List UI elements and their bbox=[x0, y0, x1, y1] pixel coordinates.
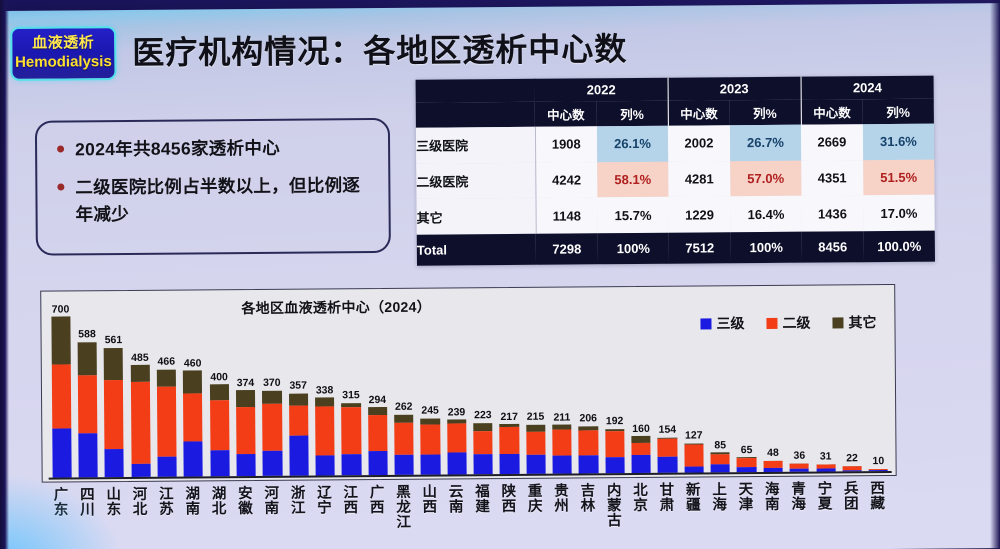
bar-segment-二级 bbox=[262, 403, 282, 450]
bar-segment-三级 bbox=[236, 454, 255, 476]
cell-pct: 31.6% bbox=[863, 124, 935, 160]
list-item: 2024年共8456家透析中心 bbox=[53, 134, 372, 164]
x-tick-label: 山西 bbox=[417, 486, 444, 516]
bar-column: 561 bbox=[104, 334, 124, 477]
bar-segment-三级 bbox=[632, 455, 651, 473]
x-tick-label: 福建 bbox=[469, 485, 496, 515]
cell-count: 4351 bbox=[801, 160, 863, 196]
bar-segment-二级 bbox=[341, 407, 361, 454]
year-header-2022: 2022 bbox=[535, 78, 668, 102]
list-item: 二级医院比例占半数以上，但比例逐年减少 bbox=[53, 172, 372, 229]
regional-dialysis-center-chart: 各地区血液透析中心（2024） 三级二级其它 70058856148546646… bbox=[40, 284, 896, 483]
x-tick-label: 广西 bbox=[364, 486, 391, 516]
cell-pct: 16.4% bbox=[730, 196, 802, 232]
bar-column: 211 bbox=[552, 411, 572, 473]
bar-segment-三级 bbox=[263, 450, 282, 475]
cell-pct: 15.7% bbox=[597, 197, 669, 233]
col-header-count-2022: 中心数 bbox=[535, 101, 597, 126]
x-tick-label: 河南 bbox=[258, 487, 285, 517]
row-label: 二级医院 bbox=[416, 162, 535, 199]
cell-count: 1436 bbox=[801, 195, 863, 231]
bar-stack bbox=[473, 423, 493, 474]
bar-column: 315 bbox=[341, 389, 361, 475]
x-tick-label: 湖北 bbox=[206, 487, 233, 517]
bar-segment-三级 bbox=[342, 454, 361, 475]
x-tick-label: 北京 bbox=[627, 484, 654, 514]
x-tick-label: 内蒙古 bbox=[601, 484, 628, 529]
bar-segment-二级 bbox=[368, 415, 387, 451]
bar-value-label: 215 bbox=[527, 411, 545, 423]
bar-column: 127 bbox=[684, 430, 704, 473]
bar-segment-三级 bbox=[421, 454, 440, 474]
bar-column: 31 bbox=[816, 451, 835, 472]
bar-stack bbox=[605, 429, 625, 473]
bar-value-label: 22 bbox=[846, 453, 858, 465]
bar-segment-二级 bbox=[157, 387, 177, 457]
bar-column: 85 bbox=[711, 439, 730, 472]
bar-segment-其它 bbox=[183, 371, 202, 394]
bar-column: 239 bbox=[447, 406, 467, 475]
bar-stack bbox=[684, 443, 703, 472]
bar-segment-三级 bbox=[553, 455, 572, 474]
bar-column: 374 bbox=[236, 376, 256, 476]
bar-stack bbox=[526, 424, 546, 474]
x-tick-label: 江西 bbox=[338, 486, 365, 516]
bar-stack bbox=[631, 436, 651, 473]
bullet-dot-icon bbox=[57, 184, 64, 191]
bar-segment-其它 bbox=[262, 391, 281, 404]
chart-plot-area: 7005885614854664604003743703573383152942… bbox=[47, 288, 891, 478]
bar-column: 65 bbox=[737, 444, 756, 473]
bar-value-label: 485 bbox=[131, 352, 149, 364]
bar-value-label: 588 bbox=[78, 329, 96, 341]
bar-value-label: 31 bbox=[820, 451, 832, 463]
bar-segment-三级 bbox=[395, 455, 414, 475]
bar-segment-三级 bbox=[184, 441, 203, 476]
x-tick-label: 上海 bbox=[706, 483, 733, 513]
table-row: 其它 1148 15.7% 1229 16.4% 1436 17.0% bbox=[416, 195, 934, 235]
cell-count: 4281 bbox=[668, 161, 730, 197]
x-tick-label: 河北 bbox=[127, 488, 154, 518]
x-tick-label: 海南 bbox=[759, 483, 786, 513]
table-row: 二级医院 4242 58.1% 4281 57.0% 4351 51.5% bbox=[416, 159, 934, 199]
bar-segment-其它 bbox=[315, 398, 334, 407]
hemodialysis-logo-badge: 血液透析 Hemodialysis bbox=[10, 26, 116, 81]
bar-value-label: 223 bbox=[474, 409, 492, 421]
year-header-2024: 2024 bbox=[801, 76, 934, 100]
bar-segment-二级 bbox=[737, 458, 756, 467]
col-header-count-2024: 中心数 bbox=[801, 99, 863, 124]
bar-stack bbox=[658, 437, 677, 473]
bar-value-label: 85 bbox=[714, 439, 726, 451]
x-tick-label: 安徽 bbox=[232, 487, 259, 517]
bar-segment-二级 bbox=[104, 380, 124, 449]
x-tick-label: 江苏 bbox=[153, 488, 180, 518]
bar-stack bbox=[737, 457, 756, 472]
bar-segment-二级 bbox=[78, 375, 98, 434]
bar-value-label: 65 bbox=[741, 444, 753, 456]
slide-title: 医疗机构情况：各地区透析中心数 bbox=[132, 24, 627, 74]
bar-segment-二级 bbox=[684, 444, 703, 466]
x-tick-label: 广东 bbox=[48, 488, 75, 518]
x-tick-label: 陕西 bbox=[496, 485, 523, 515]
bar-value-label: 48 bbox=[767, 447, 779, 459]
bar-value-label: 357 bbox=[289, 380, 307, 392]
bar-stack bbox=[183, 371, 203, 477]
col-header-pct-2022: 列% bbox=[597, 101, 668, 127]
bar-column: 245 bbox=[420, 405, 440, 475]
cell-count: 2669 bbox=[801, 124, 863, 160]
bar-column: 485 bbox=[130, 352, 150, 477]
bar-stack bbox=[130, 365, 150, 477]
x-tick-label: 青海 bbox=[785, 483, 812, 513]
col-header-count-2023: 中心数 bbox=[668, 100, 730, 125]
bar-segment-二级 bbox=[526, 431, 545, 455]
cell-pct: 58.1% bbox=[597, 161, 669, 197]
col-header-pct-2024: 列% bbox=[862, 99, 934, 125]
bar-segment-三级 bbox=[711, 465, 730, 473]
bar-stack bbox=[368, 407, 388, 475]
bar-stack bbox=[77, 342, 97, 477]
x-tick-label: 山东 bbox=[100, 488, 127, 518]
bar-value-label: 370 bbox=[263, 377, 281, 389]
bar-segment-二级 bbox=[315, 407, 335, 455]
bar-stack bbox=[236, 390, 256, 476]
bar-stack bbox=[51, 316, 71, 477]
bar-stack bbox=[104, 348, 124, 477]
x-tick-label: 贵州 bbox=[548, 484, 575, 514]
table-total-row: Total 7298 100% 7512 100% 8456 100.0% bbox=[417, 230, 935, 265]
x-tick-label: 云南 bbox=[443, 485, 470, 515]
bar-segment-其它 bbox=[368, 407, 387, 415]
x-tick-label: 重庆 bbox=[522, 485, 549, 515]
bar-value-label: 338 bbox=[316, 384, 334, 396]
x-tick-label: 吉林 bbox=[575, 484, 602, 514]
cell-count: 4242 bbox=[535, 162, 597, 198]
bar-value-label: 217 bbox=[500, 411, 518, 423]
bar-segment-二级 bbox=[500, 427, 519, 455]
x-tick-label: 新疆 bbox=[680, 483, 707, 513]
bar-segment-三级 bbox=[315, 455, 334, 475]
x-tick-label: 西藏 bbox=[864, 482, 891, 512]
bar-segment-二级 bbox=[130, 382, 150, 464]
bar-segment-二级 bbox=[183, 393, 203, 441]
bar-segment-三级 bbox=[131, 464, 150, 477]
bar-segment-二级 bbox=[605, 431, 624, 457]
bar-segment-三级 bbox=[210, 450, 229, 477]
bar-stack bbox=[289, 393, 309, 475]
bar-stack bbox=[315, 398, 335, 476]
bar-segment-其它 bbox=[157, 369, 176, 387]
bar-stack bbox=[421, 418, 441, 474]
bar-value-label: 154 bbox=[659, 424, 677, 436]
bar-segment-三级 bbox=[447, 452, 466, 474]
bar-value-label: 127 bbox=[685, 430, 703, 442]
bar-segment-二级 bbox=[421, 424, 440, 454]
bar-value-label: 239 bbox=[448, 406, 466, 418]
cell-pct: 26.1% bbox=[597, 126, 669, 162]
x-tick-label: 甘肃 bbox=[654, 484, 681, 514]
bar-column: 223 bbox=[473, 409, 493, 474]
bar-stack bbox=[210, 384, 230, 476]
cell-pct: 17.0% bbox=[863, 195, 935, 231]
bar-column: 48 bbox=[763, 447, 782, 472]
bar-stack bbox=[500, 424, 520, 474]
bar-value-label: 245 bbox=[421, 405, 439, 417]
x-tick-label: 黑龙江 bbox=[390, 486, 417, 531]
bar-value-label: 160 bbox=[632, 423, 650, 435]
bar-segment-二级 bbox=[289, 405, 308, 435]
row-label: 其它 bbox=[416, 198, 535, 235]
x-tick-label: 四川 bbox=[74, 488, 101, 518]
bar-value-label: 262 bbox=[395, 401, 413, 413]
bar-stack bbox=[341, 403, 361, 476]
chart-x-tick-labels: 广东四川山东河北江苏湖南湖北安徽河南浙江辽宁江西广西黑龙江山西云南福建陕西重庆贵… bbox=[48, 482, 891, 549]
bar-column: 217 bbox=[500, 411, 520, 475]
bar-column: 154 bbox=[658, 424, 678, 473]
bar-segment-二级 bbox=[579, 431, 598, 455]
bar-segment-三级 bbox=[526, 455, 545, 474]
table-row: 三级医院 1908 26.1% 2002 26.7% 2669 31.6% bbox=[416, 124, 934, 164]
bar-segment-二级 bbox=[51, 365, 71, 428]
cell-count: 1908 bbox=[535, 126, 597, 162]
bar-value-label: 460 bbox=[184, 357, 202, 369]
logo-chinese-label: 血液透析 bbox=[32, 35, 94, 52]
bar-column: 10 bbox=[869, 455, 888, 471]
bar-segment-三级 bbox=[289, 435, 309, 475]
bar-segment-其它 bbox=[130, 365, 149, 382]
bar-stack bbox=[579, 426, 599, 474]
bar-stack bbox=[157, 369, 177, 476]
logo-english-label: Hemodialysis bbox=[15, 53, 112, 72]
bar-segment-三级 bbox=[157, 457, 176, 477]
cell-count: 1229 bbox=[669, 196, 731, 232]
bar-segment-三级 bbox=[78, 434, 98, 478]
bar-segment-三级 bbox=[605, 457, 624, 473]
bar-column: 357 bbox=[289, 380, 309, 476]
bar-value-label: 10 bbox=[872, 455, 884, 467]
bar-stack bbox=[790, 463, 809, 471]
bar-column: 460 bbox=[183, 357, 203, 476]
cell-count: 1148 bbox=[536, 198, 598, 234]
dialysis-center-counts-table: 2022 2023 2024 中心数 列% 中心数 列% 中心数 列% 三级医院 bbox=[416, 76, 935, 266]
x-tick-label: 兵团 bbox=[838, 482, 865, 512]
bar-segment-三级 bbox=[579, 455, 598, 474]
x-tick-label: 天津 bbox=[733, 483, 760, 513]
bar-column: 700 bbox=[51, 303, 72, 478]
x-tick-label: 浙江 bbox=[285, 487, 312, 517]
cell-pct: 100% bbox=[598, 233, 669, 265]
table-corner-cell bbox=[416, 102, 535, 128]
x-tick-label: 辽宁 bbox=[311, 486, 338, 516]
bar-value-label: 192 bbox=[606, 415, 624, 427]
row-label: 三级医院 bbox=[416, 127, 535, 164]
bar-segment-三级 bbox=[500, 454, 519, 474]
bar-stack bbox=[447, 419, 467, 474]
bar-stack bbox=[763, 461, 782, 472]
bar-value-label: 374 bbox=[237, 376, 255, 388]
table-corner-cell bbox=[416, 79, 535, 103]
bar-segment-三级 bbox=[105, 449, 124, 477]
bar-column: 192 bbox=[605, 415, 625, 473]
slide-photo-screen: 血液透析 Hemodialysis 医疗机构情况：各地区透析中心数 2024年共… bbox=[0, 0, 1000, 549]
bullet-text: 2024年共8456家透析中心 bbox=[75, 135, 280, 164]
key-points-callout: 2024年共8456家透析中心 二级医院比例占半数以上，但比例逐年减少 bbox=[35, 118, 391, 256]
x-tick-label: 湖南 bbox=[179, 487, 206, 517]
bar-column: 22 bbox=[842, 453, 861, 472]
bar-segment-二级 bbox=[394, 423, 413, 455]
bar-segment-其它 bbox=[77, 342, 96, 375]
bar-value-label: 36 bbox=[793, 450, 805, 462]
bar-value-label: 561 bbox=[105, 335, 123, 347]
bullet-dot-icon bbox=[57, 145, 64, 152]
bar-segment-三级 bbox=[368, 451, 387, 475]
cell-pct: 57.0% bbox=[730, 160, 802, 196]
bar-stack bbox=[394, 414, 414, 474]
bar-column: 36 bbox=[790, 450, 809, 472]
bar-column: 370 bbox=[262, 377, 282, 476]
cell-pct: 100.0% bbox=[863, 230, 935, 262]
bar-column: 206 bbox=[579, 412, 599, 473]
bar-segment-二级 bbox=[711, 454, 730, 465]
bar-stack bbox=[552, 425, 572, 474]
cell-pct: 51.5% bbox=[863, 159, 935, 195]
bar-stack bbox=[262, 391, 282, 476]
bar-value-label: 206 bbox=[579, 412, 597, 424]
cell-count: 7298 bbox=[536, 233, 598, 265]
bar-segment-二级 bbox=[658, 439, 677, 458]
cell-count: 2002 bbox=[668, 125, 730, 161]
bar-segment-二级 bbox=[632, 443, 651, 455]
bar-segment-二级 bbox=[447, 424, 466, 453]
bar-value-label: 466 bbox=[157, 356, 175, 368]
bar-segment-二级 bbox=[473, 431, 492, 454]
cell-count: 7512 bbox=[669, 232, 731, 264]
cell-count: 8456 bbox=[802, 231, 864, 263]
bar-segment-三级 bbox=[52, 428, 72, 478]
bar-segment-三级 bbox=[474, 454, 493, 474]
bar-segment-其它 bbox=[210, 384, 229, 400]
bar-value-label: 294 bbox=[369, 394, 387, 406]
bar-segment-其它 bbox=[236, 390, 255, 407]
bar-segment-二级 bbox=[210, 400, 230, 450]
bar-column: 338 bbox=[315, 384, 335, 475]
cell-pct: 100% bbox=[731, 232, 802, 264]
bar-value-label: 315 bbox=[342, 389, 360, 401]
bar-segment-其它 bbox=[104, 348, 123, 381]
bar-column: 294 bbox=[368, 394, 388, 475]
bar-segment-其它 bbox=[473, 423, 492, 432]
bar-value-label: 700 bbox=[52, 303, 70, 315]
bar-segment-其它 bbox=[289, 393, 308, 405]
bar-column: 262 bbox=[394, 401, 414, 475]
bar-segment-二级 bbox=[236, 407, 256, 454]
row-label-total: Total bbox=[417, 234, 536, 266]
bar-segment-二级 bbox=[552, 430, 571, 455]
bar-column: 400 bbox=[209, 371, 229, 477]
bar-column: 160 bbox=[631, 423, 651, 473]
cell-pct: 26.7% bbox=[730, 125, 802, 161]
bullet-text: 二级医院比例占半数以上，但比例逐年减少 bbox=[75, 172, 372, 229]
year-header-2023: 2023 bbox=[668, 77, 801, 101]
col-header-pct-2023: 列% bbox=[729, 100, 800, 126]
bar-column: 215 bbox=[526, 411, 546, 474]
presentation-slide: 血液透析 Hemodialysis 医疗机构情况：各地区透析中心数 2024年共… bbox=[0, 3, 1000, 549]
bar-column: 466 bbox=[157, 356, 177, 477]
bar-column: 588 bbox=[77, 329, 97, 478]
bar-stack bbox=[711, 453, 730, 473]
bar-value-label: 211 bbox=[553, 411, 570, 423]
x-tick-label: 宁夏 bbox=[812, 482, 839, 512]
bar-value-label: 400 bbox=[210, 371, 228, 383]
bar-segment-三级 bbox=[658, 457, 677, 473]
bar-segment-其它 bbox=[394, 414, 413, 423]
bar-segment-其它 bbox=[51, 316, 71, 364]
